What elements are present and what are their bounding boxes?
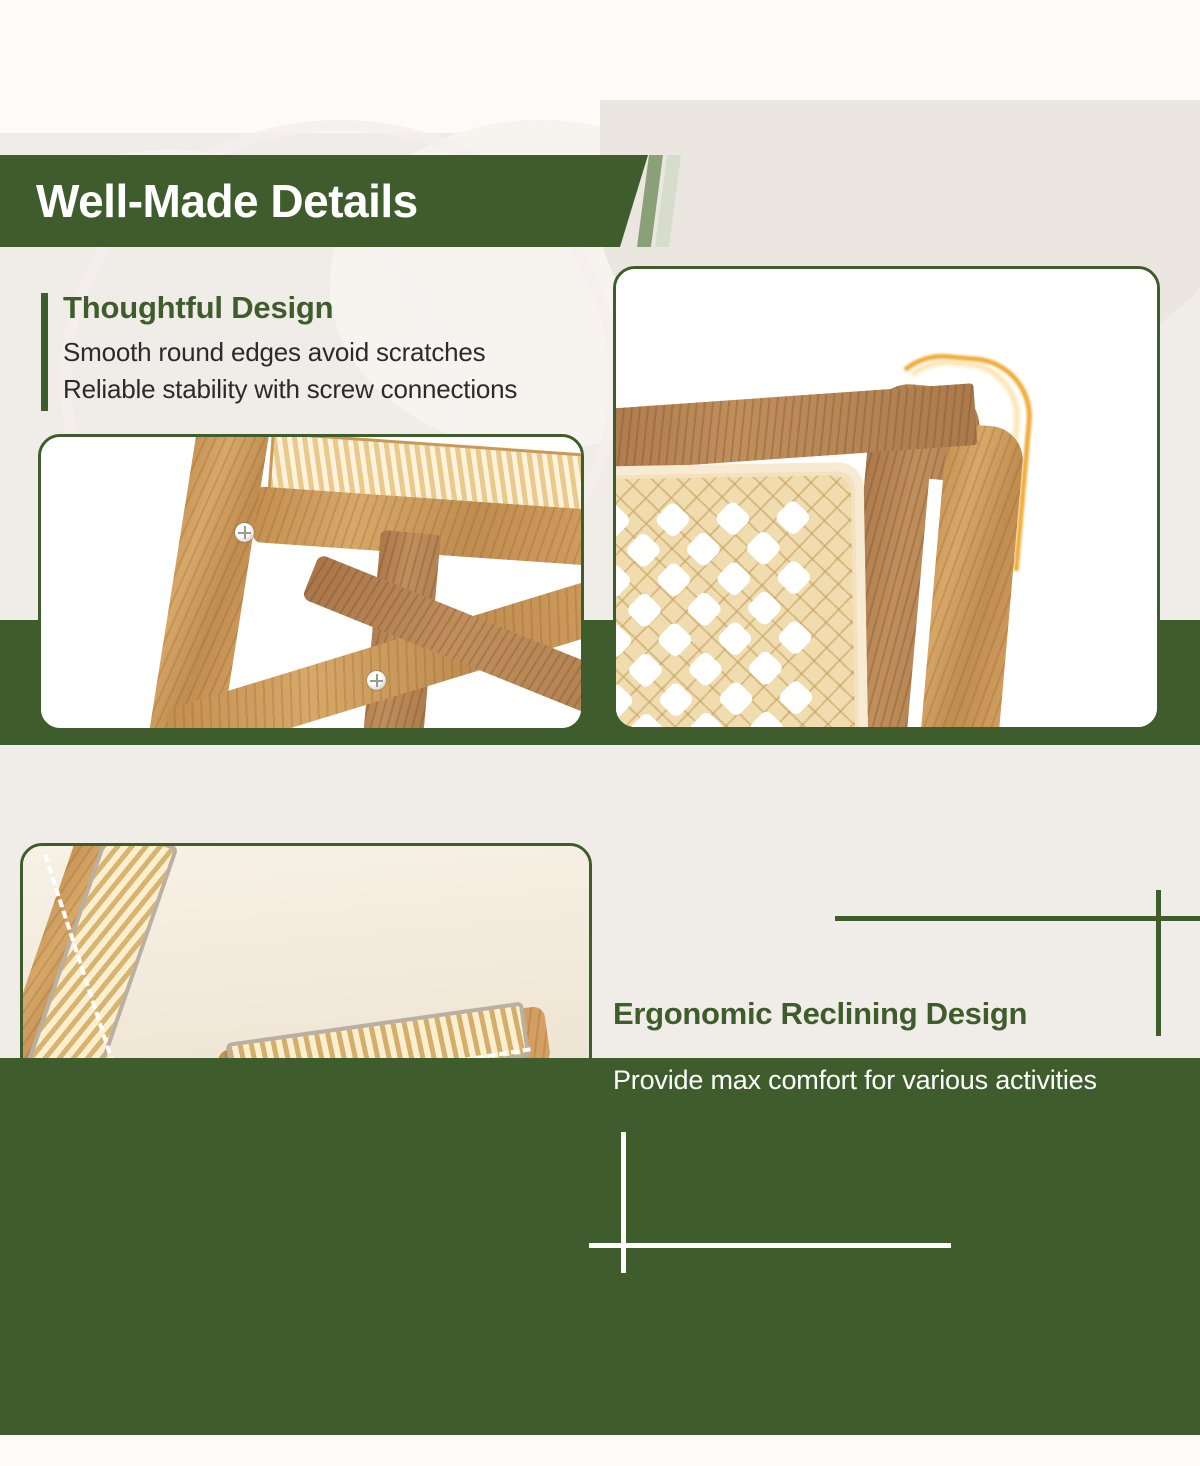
- feature-right-heading: Ergonomic Reclining Design: [613, 996, 1027, 1032]
- photo-card-folding-frame: [38, 434, 584, 731]
- screw-icon: [367, 671, 386, 690]
- crosshair-green-horizontal: [835, 916, 1200, 921]
- photo-folding-frame: [41, 437, 581, 728]
- cane-bezel: [616, 462, 869, 727]
- feature-right-subheading: Provide max comfort for various activiti…: [613, 1065, 1097, 1096]
- cane-holes: [616, 475, 855, 727]
- photo-cane-corner: [616, 269, 1157, 727]
- crosshair-green-vertical: [1156, 890, 1161, 1036]
- poster-canvas: Well-Made Details Thoughtful Design Smoo…: [0, 0, 1200, 1466]
- page-title: Well-Made Details: [0, 174, 418, 228]
- crosshair-white-vertical: [621, 1132, 626, 1273]
- screw-icon: [235, 523, 254, 542]
- accent-bar: [41, 293, 48, 411]
- feature-left-heading: Thoughtful Design: [63, 290, 601, 326]
- photo-card-cane-corner: [613, 266, 1160, 730]
- banner-shape: Well-Made Details: [0, 155, 648, 247]
- feature-left-line-2: Reliable stability with screw connection…: [63, 371, 601, 408]
- crosshair-white-horizontal: [589, 1243, 951, 1248]
- feature-left-text: Thoughtful Design Smooth round edges avo…: [41, 290, 601, 407]
- feature-left-line-1: Smooth round edges avoid scratches: [63, 334, 601, 371]
